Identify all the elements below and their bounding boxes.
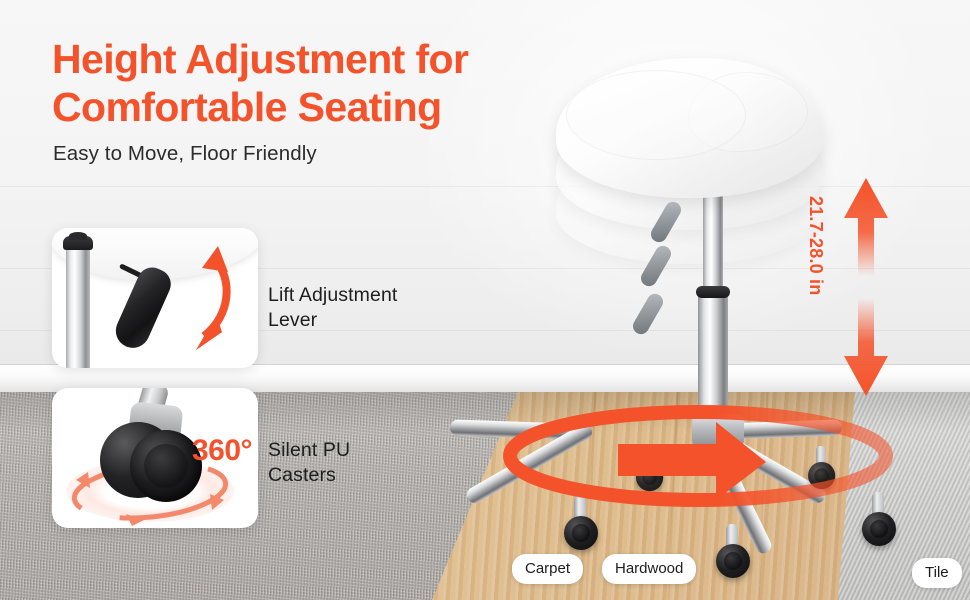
feature-label-lift-lever: Lift Adjustment Lever [268,283,397,333]
page-subtitle: Easy to Move, Floor Friendly [53,142,317,166]
caster-wheel-hub [144,444,188,488]
feature-card-lift-lever [52,228,258,368]
feature-label-line-2: Casters [268,463,350,488]
swivel-rotation-arrow-icon [498,400,898,520]
feature-label-line-2: Lever [268,308,397,333]
degree-badge: 360° [192,434,252,468]
feature-label-line-1: Silent PU [268,438,350,463]
feature-label-line-1: Lift Adjustment [268,283,397,308]
floor-label-hardwood: Hardwood [602,554,696,584]
gas-lift-collar [696,286,730,298]
caster-wheel [716,544,750,578]
infographic-canvas: Height Adjustment for Comfortable Seatin… [0,0,970,600]
seat-position-high [556,58,824,198]
height-range-label: 21.7-28.0 in [805,196,826,376]
caster-wheel [564,516,598,550]
floor-label-carpet: Carpet [512,554,583,584]
floor-label-tile: Tile [912,558,962,588]
height-range-arrow-icon [838,178,894,396]
feature-card-casters: 360° [52,388,258,528]
lever-motion-arrow-icon [52,228,258,368]
lever-indicator [630,291,666,337]
feature-label-casters: Silent PU Casters [268,438,350,488]
